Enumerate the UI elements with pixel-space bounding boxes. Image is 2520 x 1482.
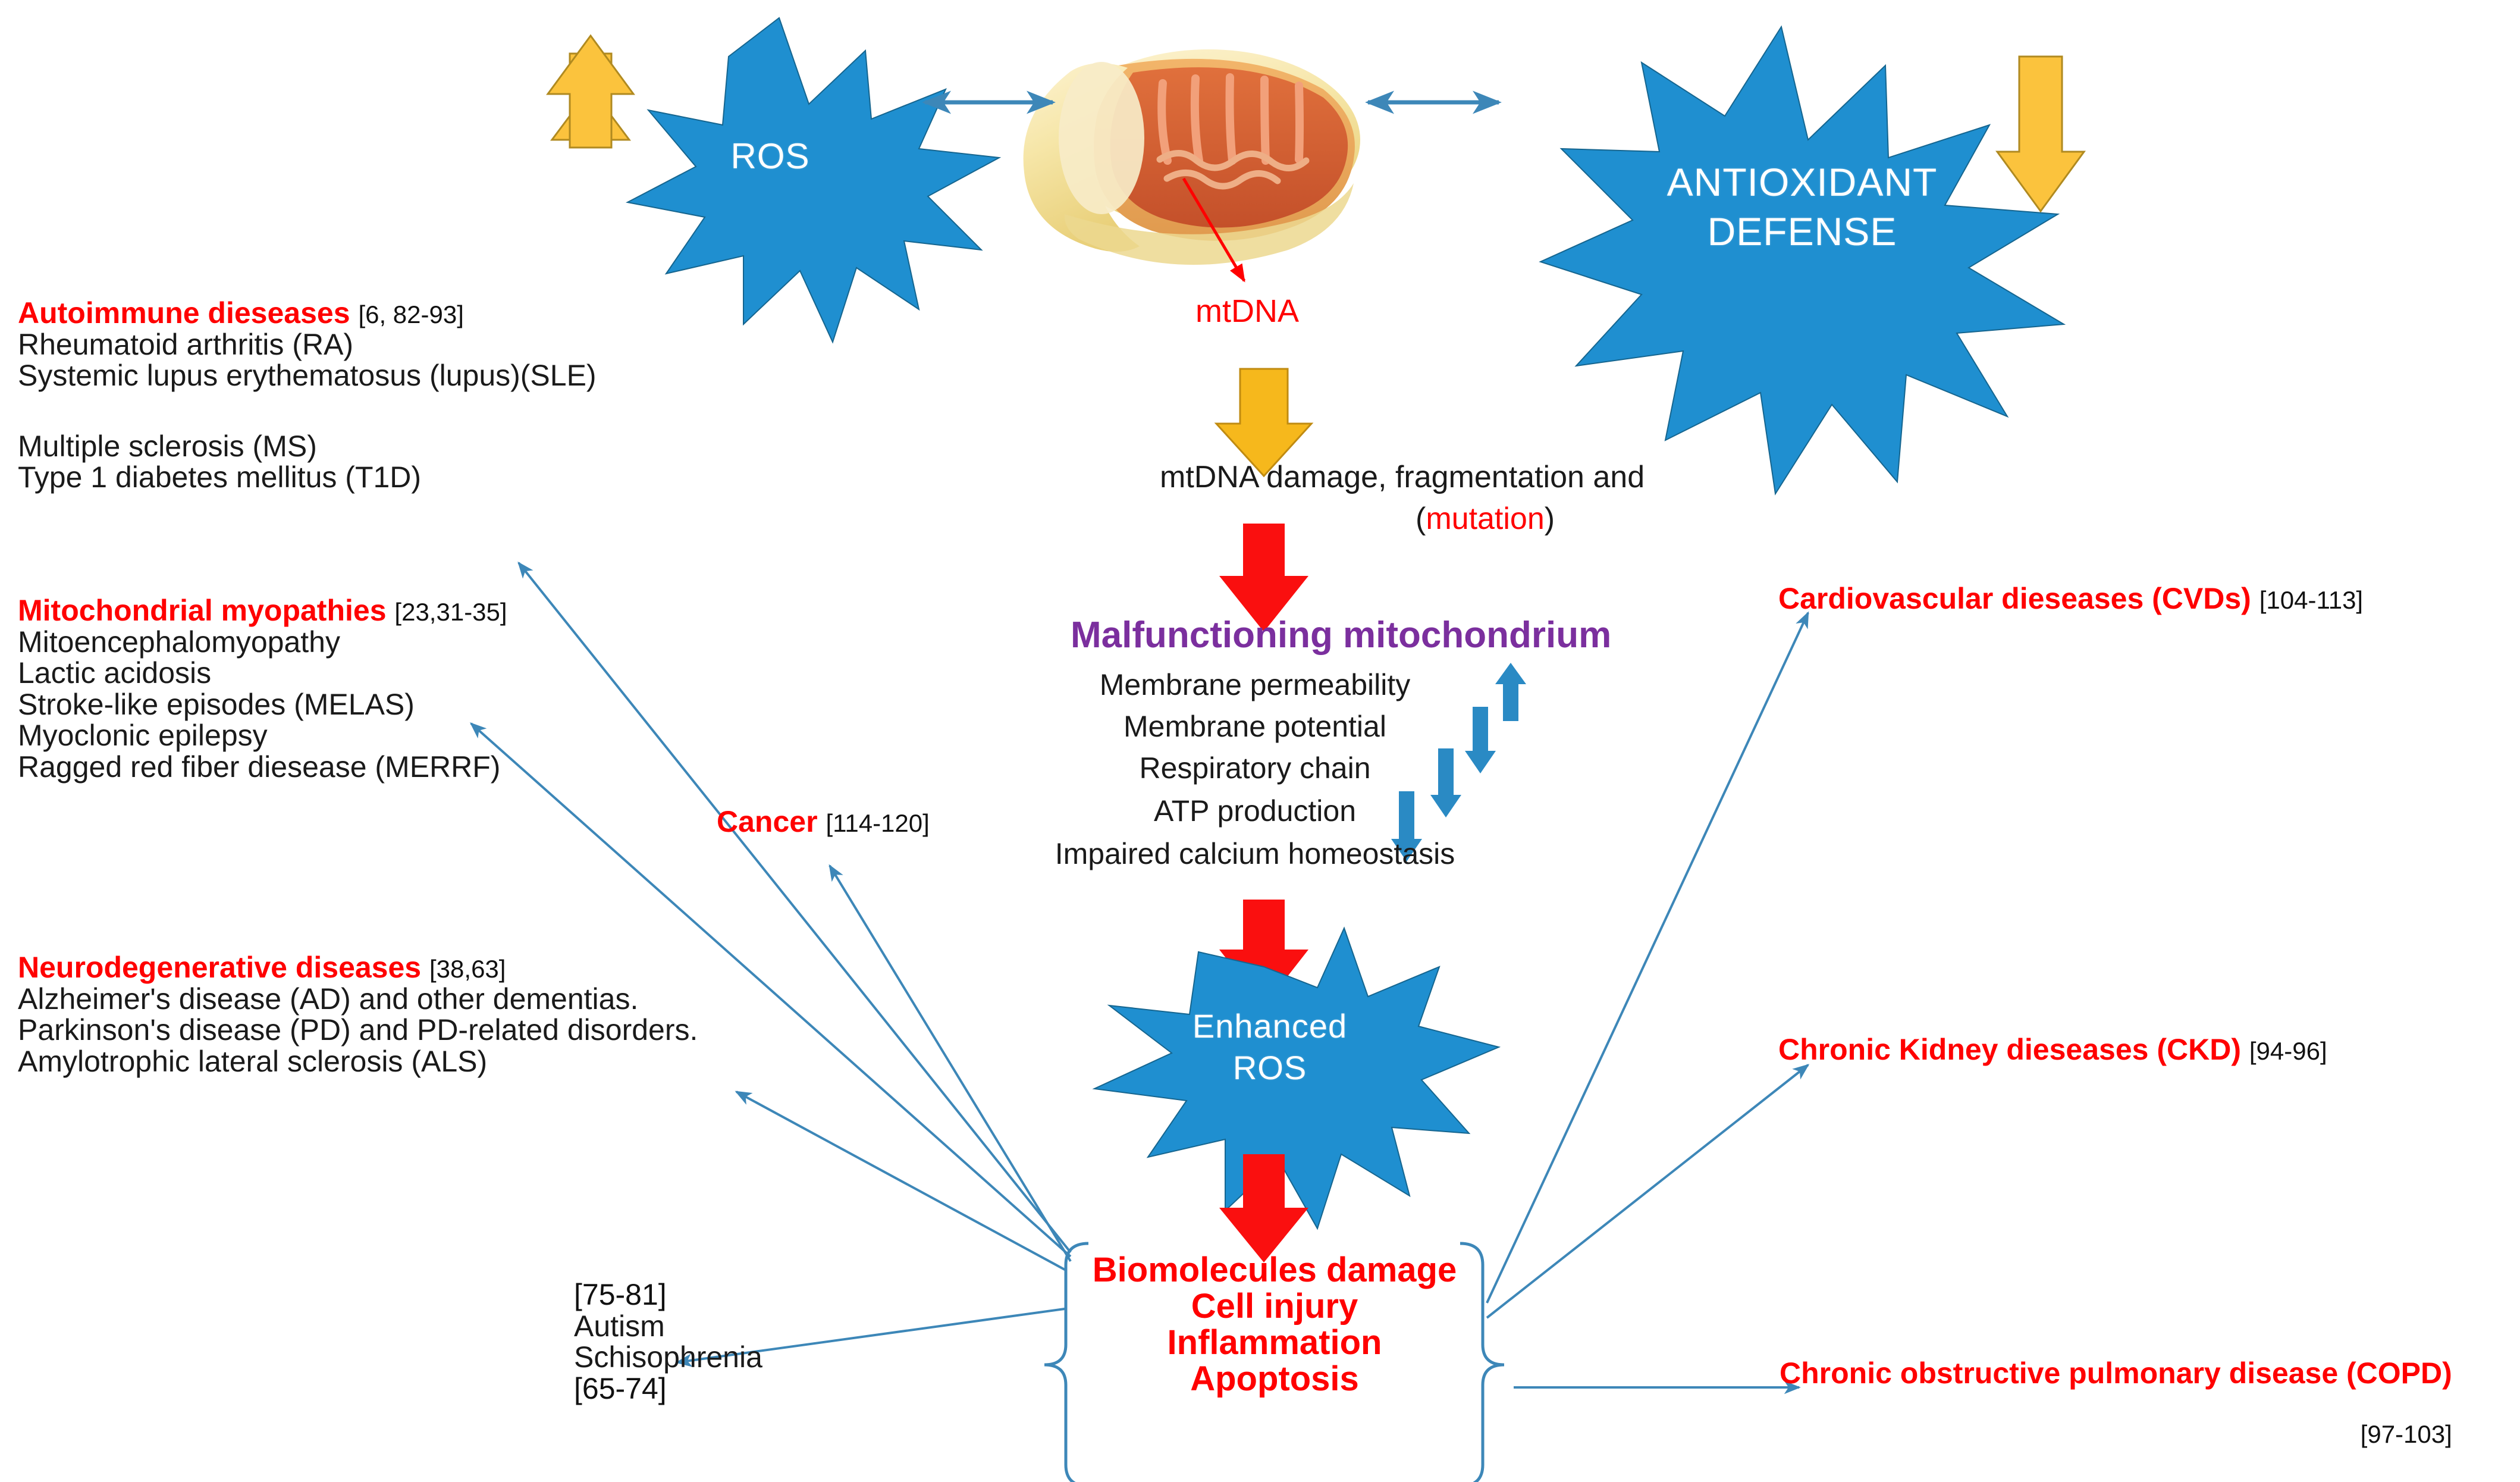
group-heading: Chronic Kidney dieseases (CKD)	[1778, 1033, 2241, 1066]
group-mitochondrial-myopathies: Mitochondrial myopathies [23,31-35] Mito…	[18, 595, 507, 782]
antioxidant-decrease-arrow-icon	[1997, 57, 2084, 211]
outcome-item: Inflammation	[1088, 1325, 1461, 1361]
group-heading: Cardiovascular dieseases (CVDs)	[1778, 582, 2251, 615]
group-heading-row: Mitochondrial myopathies [23,31-35]	[18, 595, 507, 626]
group-neurodegenerative-diseases: Neurodegenerative diseases [38,63] Alzhe…	[18, 952, 698, 1077]
malfunction-to-enhanced-ros-arrow-icon	[1219, 900, 1308, 1007]
group-copd: Chronic obstructive pulmonary disease (C…	[1780, 1358, 2452, 1447]
antioxidant-defense-starburst	[1540, 27, 2064, 494]
group-heading-row: Autoimmune dieseases [6, 82-93]	[18, 297, 597, 329]
group-refs: [104-113]	[2259, 586, 2363, 614]
outcome-item: Cell injury	[1088, 1289, 1461, 1325]
disease-item: Myoclonic epilepsy	[18, 720, 507, 751]
group-heading: Cancer	[717, 805, 818, 838]
disease-item: Autism	[574, 1311, 762, 1342]
group-refs: [114-120]	[826, 809, 929, 837]
refs-top: [75-81]	[574, 1279, 762, 1311]
group-heading: Mitochondrial myopathies	[18, 594, 387, 627]
arrow-to-cancer	[830, 866, 1071, 1261]
group-autoimmune-dieseases: Autoimmune dieseases [6, 82-93] Rheumato…	[18, 297, 597, 493]
mutation-word: mutation	[1426, 502, 1544, 536]
disease-item: Type 1 diabetes mellitus (T1D)	[18, 462, 597, 493]
enhanced-ros-line-2: ROS	[1151, 1047, 1389, 1089]
group-heading: Neurodegenerative diseases	[18, 951, 421, 984]
disease-item: Parkinson's disease (PD) and PD-related …	[18, 1014, 698, 1046]
disease-item-spacer	[18, 391, 597, 431]
disease-item: Systemic lupus erythematosus (lupus)(SLE…	[18, 360, 597, 391]
paren-open: (	[1416, 502, 1426, 536]
arrow-to-neurodegenerative	[736, 1092, 1066, 1270]
mitochondrion-illustration	[1024, 49, 1360, 281]
ros-increase-arrow-icon	[548, 36, 633, 148]
mitochondrial-function-list: Membrane permeability Membrane potential…	[975, 669, 1534, 880]
function-item: Impaired calcium homeostasis	[975, 838, 1534, 880]
antioxidant-line-2: DEFENSE	[1618, 207, 1986, 256]
mtdna-damage-line-2: (mutation)	[1416, 503, 1555, 535]
group-refs: [6, 82-93]	[358, 300, 463, 328]
function-item: ATP production	[975, 795, 1534, 838]
group-heading: Autoimmune dieseases	[18, 296, 350, 330]
disease-item: Schisophrenia	[574, 1342, 762, 1373]
arrow-to-cvds	[1487, 613, 1808, 1303]
function-item: Membrane permeability	[975, 669, 1534, 711]
group-refs: [94-96]	[2249, 1037, 2327, 1065]
outcome-item: Apoptosis	[1088, 1361, 1461, 1398]
disease-item: Alzheimer's disease (AD) and other demen…	[18, 983, 698, 1015]
disease-item: Stroke-like episodes (MELAS)	[18, 689, 507, 720]
disease-item: Lactic acidosis	[18, 657, 507, 689]
group-refs: [23,31-35]	[394, 598, 507, 626]
refs-bottom: [65-74]	[574, 1373, 762, 1405]
outcomes-list: Biomolecules damage Cell injury Inflamma…	[1088, 1252, 1461, 1398]
group-heading-row: Neurodegenerative diseases [38,63]	[18, 952, 698, 983]
arrow-to-autoimmune	[519, 563, 1071, 1252]
disease-item: Rheumatoid arthritis (RA)	[18, 329, 597, 361]
paren-close: )	[1545, 502, 1555, 536]
enhanced-ros-line-1: Enhanced	[1151, 1005, 1389, 1047]
mtdna-label: mtDNA	[1195, 294, 1299, 328]
group-refs: [38,63]	[429, 955, 506, 983]
disease-item: Mitoencephalomyopathy	[18, 626, 507, 658]
group-cardiovascular-dieseases: Cardiovascular dieseases (CVDs) [104-113…	[1778, 583, 2363, 615]
enhanced-ros-star-label: Enhanced ROS	[1151, 1005, 1389, 1089]
group-heading: Chronic obstructive pulmonary disease (C…	[1780, 1358, 2452, 1389]
ros-star-label: ROS	[699, 134, 842, 178]
malfunctioning-mitochondrium-title: Malfunctioning mitochondrium	[1071, 616, 1611, 654]
disease-item: Amylotrophic lateral sclerosis (ALS)	[18, 1046, 698, 1077]
function-item: Respiratory chain	[975, 753, 1534, 795]
mtdna-damage-line-1: mtDNA damage, fragmentation and	[1160, 461, 1645, 494]
group-cancer: Cancer [114-120]	[717, 806, 930, 838]
ros-starburst	[627, 18, 999, 342]
arrow-to-ckd	[1487, 1065, 1808, 1318]
outcome-item: Biomolecules damage	[1088, 1252, 1461, 1289]
function-item: Membrane potential	[975, 711, 1534, 753]
disease-item: Multiple sclerosis (MS)	[18, 431, 597, 462]
group-refs: [97-103]	[1780, 1421, 2452, 1447]
disease-item: Ragged red fiber diesease (MERRF)	[18, 751, 507, 783]
group-autism-schisophrenia: [75-81] Autism Schisophrenia [65-74]	[574, 1279, 762, 1404]
antioxidant-line-1: ANTIOXIDANT	[1618, 158, 1986, 207]
group-chronic-kidney-dieseases: Chronic Kidney dieseases (CKD) [94-96]	[1778, 1034, 2327, 1066]
antioxidant-defense-star-label: ANTIOXIDANT DEFENSE	[1618, 158, 1986, 256]
enhanced-ros-to-biomolecules-arrow-icon	[1219, 1154, 1308, 1262]
